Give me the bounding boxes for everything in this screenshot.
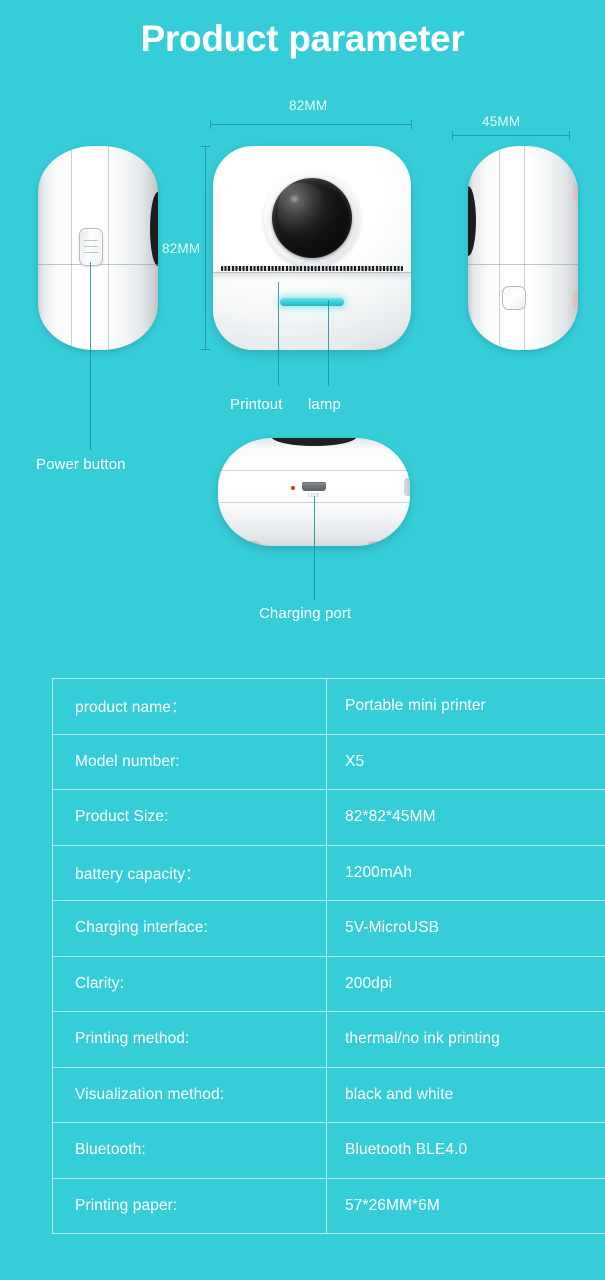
callout-line-power-button (90, 262, 91, 450)
spec-label: product name： (53, 679, 327, 735)
product-parameter-page: Product parameter 82MM 82MM 45MM (0, 0, 605, 1280)
seam-line (218, 470, 410, 471)
lens-highlight-dot (291, 196, 298, 202)
spec-value: thermal/no ink printing (327, 1012, 605, 1068)
spec-value: Portable mini printer (327, 679, 605, 735)
spec-value: X5 (327, 734, 605, 790)
table-row: Clarity: 200dpi (53, 956, 605, 1012)
dimension-label-depth: 45MM (482, 114, 520, 129)
table-row: battery capacity： 1200mAh (53, 845, 605, 901)
dimension-line-width (210, 124, 412, 125)
side-tab (572, 292, 578, 309)
device-foot (368, 541, 386, 545)
callout-label-power-button: Power button (36, 456, 126, 473)
micro-usb-port-icon (302, 482, 326, 491)
table-row: Visualization method: black and white (53, 1067, 605, 1123)
spec-label: Printing paper: (53, 1178, 327, 1234)
dimension-line-height (205, 146, 206, 350)
seam-line (108, 146, 109, 350)
table-row: Printing method: thermal/no ink printing (53, 1012, 605, 1068)
printer-right-side-view (468, 146, 578, 350)
table-row: Model number: X5 (53, 734, 605, 790)
spec-value: 5V-MicroUSB (327, 901, 605, 957)
specification-table: product name： Portable mini printer Mode… (52, 678, 605, 1234)
callout-label-printout: Printout (230, 396, 283, 413)
callout-line-lamp (328, 300, 329, 386)
callout-line-printout (278, 282, 279, 386)
spec-value: 1200mAh (327, 845, 605, 901)
table-row: Printing paper: 57*26MM*6M (53, 1178, 605, 1234)
lens-edge (468, 186, 476, 256)
spec-value: 57*26MM*6M (327, 1178, 605, 1234)
printer-left-side-view (38, 146, 158, 350)
lens-cap-edge (271, 438, 357, 446)
callout-label-lamp: lamp (308, 396, 341, 413)
side-tab (572, 184, 578, 201)
spec-label: Charging interface: (53, 901, 327, 957)
spec-label: Clarity: (53, 956, 327, 1012)
dimension-line-depth (452, 135, 570, 136)
spec-label: Bluetooth: (53, 1123, 327, 1179)
lens-gloss (278, 183, 324, 234)
specification-table-body: product name： Portable mini printer Mode… (53, 679, 605, 1234)
side-button-icon (502, 286, 526, 310)
spec-value: black and white (327, 1067, 605, 1123)
lamp-indicator-icon (280, 298, 344, 306)
led-indicator-icon (291, 486, 295, 490)
dimension-label-width: 82MM (289, 98, 327, 113)
page-title: Product parameter (0, 14, 605, 64)
seam-line (499, 146, 500, 350)
device-foot (242, 541, 260, 545)
table-row: Product Size: 82*82*45MM (53, 790, 605, 846)
dimension-label-height: 82MM (162, 241, 200, 256)
slot-shadow (213, 273, 411, 281)
lens-edge (150, 192, 158, 266)
side-tab (404, 478, 410, 496)
spec-value: 200dpi (327, 956, 605, 1012)
seam-line (524, 146, 525, 350)
spec-label: battery capacity： (53, 845, 327, 901)
seam-line (71, 146, 72, 350)
paper-tear-slot (221, 266, 403, 271)
lens-icon (272, 178, 352, 258)
table-row: product name： Portable mini printer (53, 679, 605, 735)
table-row: Charging interface: 5V-MicroUSB (53, 901, 605, 957)
table-row: Bluetooth: Bluetooth BLE4.0 (53, 1123, 605, 1179)
power-button-icon (79, 228, 103, 266)
spec-label: Model number: (53, 734, 327, 790)
spec-value: Bluetooth BLE4.0 (327, 1123, 605, 1179)
spec-label: Product Size: (53, 790, 327, 846)
printer-front-view (213, 146, 411, 350)
callout-line-charging-port (314, 496, 315, 600)
spec-label: Printing method: (53, 1012, 327, 1068)
spec-label: Visualization method: (53, 1067, 327, 1123)
callout-label-charging-port: Charging port (259, 605, 351, 622)
seam-line (468, 264, 578, 265)
spec-value: 82*82*45MM (327, 790, 605, 846)
